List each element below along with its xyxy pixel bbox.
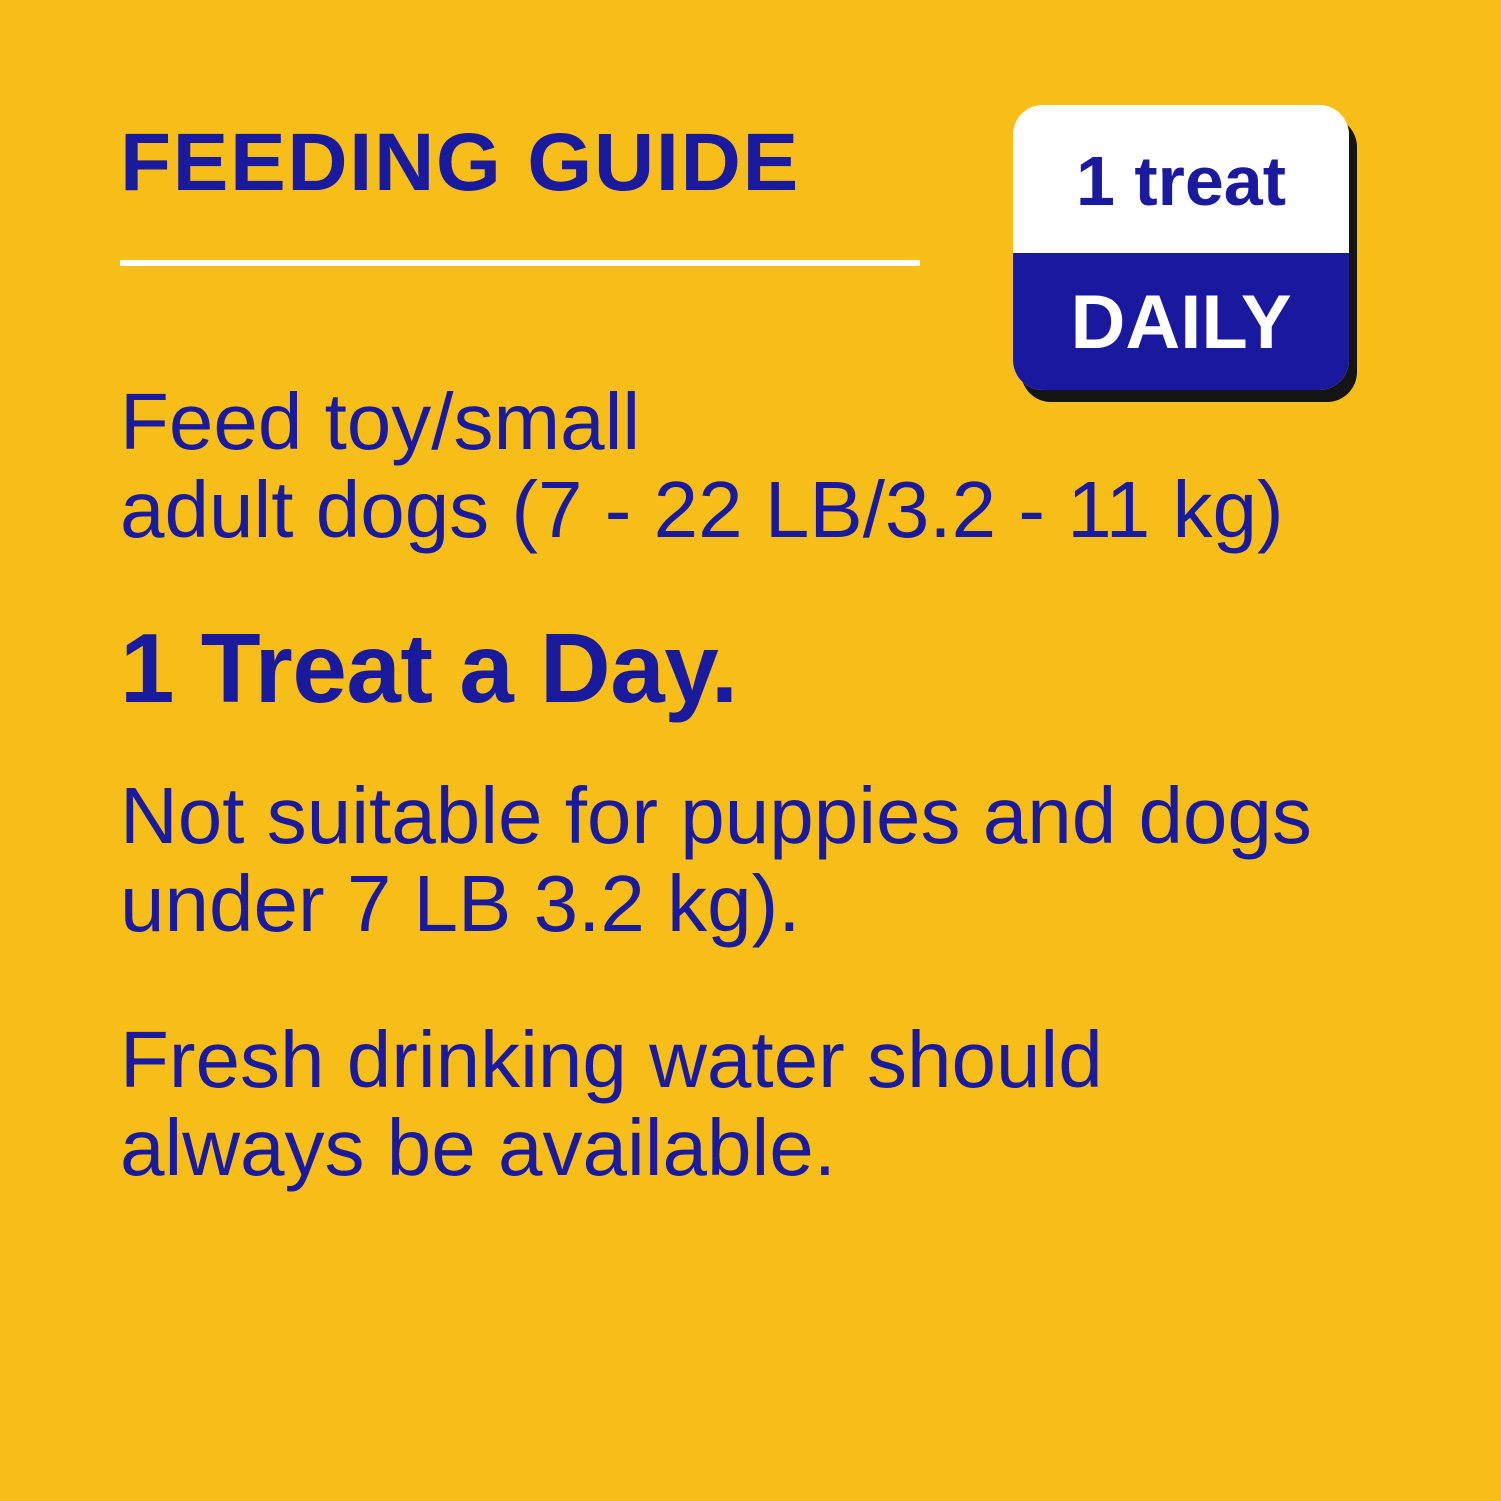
badge-bottom-label: DAILY — [1070, 284, 1291, 362]
feeding-warning-text: Not suitable for puppies and dogs under … — [120, 772, 1410, 948]
title-divider — [120, 260, 920, 266]
feeding-intro-text: Feed toy/small adult dogs (7 - 22 LB/3.2… — [120, 378, 1410, 554]
spacer-2 — [120, 720, 1410, 772]
spacer-1 — [120, 554, 1410, 616]
badge-bottom-section: DAILY — [1013, 253, 1349, 390]
spacer-3 — [120, 948, 1410, 1016]
badge-top-section: 1 treat — [1013, 105, 1349, 253]
feeding-guide-panel: FEEDING GUIDE 1 treat DAILY Feed toy/sma… — [0, 0, 1501, 1501]
feeding-instructions: Feed toy/small adult dogs (7 - 22 LB/3.2… — [120, 378, 1410, 1192]
page-title: FEEDING GUIDE — [120, 118, 800, 208]
badge-body: 1 treat DAILY — [1013, 105, 1349, 390]
fresh-water-text: Fresh drinking water should always be av… — [120, 1016, 1410, 1192]
feeding-highlight-text: 1 Treat a Day. — [120, 616, 1410, 720]
badge-top-label: 1 treat — [1076, 145, 1286, 217]
daily-treat-badge: 1 treat DAILY — [1013, 105, 1349, 390]
